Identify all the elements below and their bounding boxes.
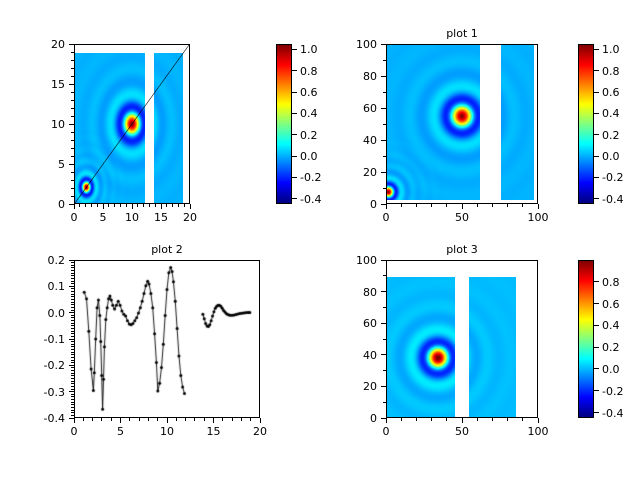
y-tick-major <box>69 164 74 165</box>
y-tick-minor <box>383 92 386 93</box>
y-tick-major <box>69 339 74 340</box>
x-tick-minor <box>232 418 233 421</box>
y-tick-major <box>69 365 74 366</box>
y-tick-minor <box>71 344 74 345</box>
y-tick-minor <box>71 404 74 405</box>
y-tick-label: 0 <box>337 199 377 210</box>
y-tick-minor <box>71 349 74 350</box>
x-tick-minor <box>222 418 223 421</box>
y-tick-minor <box>71 315 74 316</box>
heatmap-image-plot-3 <box>387 261 537 417</box>
y-tick-major <box>381 291 386 292</box>
x-tick-minor <box>184 204 185 207</box>
y-tick-label: 20 <box>337 167 377 178</box>
x-tick-major <box>462 418 463 423</box>
colorbar-tick <box>594 390 599 391</box>
colorbar-tick <box>594 92 599 93</box>
y-tick-minor <box>71 367 74 368</box>
colorbar-tick-label: 0.2 <box>602 342 620 353</box>
y-tick-minor <box>71 172 74 173</box>
colorbar-tick-label: 0.4 <box>602 108 620 119</box>
x-tick-major <box>74 418 75 423</box>
x-tick-minor <box>83 418 84 421</box>
y-tick-label: 80 <box>337 287 377 298</box>
x-tick-minor <box>143 204 144 207</box>
colorbar-tick <box>594 412 599 413</box>
y-tick-minor <box>71 381 74 382</box>
y-tick-minor <box>71 410 74 411</box>
colorbar-plot-1 <box>578 44 594 204</box>
x-tick-minor <box>492 418 493 421</box>
x-tick-minor <box>91 204 92 207</box>
y-tick-minor <box>71 394 74 395</box>
y-tick-label: 0 <box>337 413 377 424</box>
x-tick-label: 5 <box>101 426 141 437</box>
y-tick-minor <box>71 399 74 400</box>
y-tick-major <box>381 323 386 324</box>
x-tick-minor <box>176 418 177 421</box>
x-tick-label: 50 <box>442 426 482 437</box>
y-tick-minor <box>383 60 386 61</box>
y-tick-minor <box>71 281 74 282</box>
y-tick-major <box>381 204 386 205</box>
colorbar-tick-label: 0.8 <box>602 66 620 77</box>
y-tick-major <box>69 312 74 313</box>
y-tick-minor <box>71 389 74 390</box>
y-tick-minor <box>71 267 74 268</box>
y-tick-label: 15 <box>25 79 65 90</box>
x-tick-label: 20 <box>170 212 210 223</box>
x-tick-minor <box>522 418 523 421</box>
x-tick-minor <box>129 418 130 421</box>
colorbar-tick <box>594 156 599 157</box>
y-tick-major <box>69 124 74 125</box>
colorbar-tick <box>292 156 297 157</box>
y-tick-major <box>69 84 74 85</box>
x-tick-minor <box>431 204 432 207</box>
x-tick-major <box>538 418 539 423</box>
x-tick-label: 10 <box>147 426 187 437</box>
x-tick-minor <box>204 418 205 421</box>
colorbar-plot-3 <box>578 260 594 418</box>
y-tick-minor <box>71 328 74 329</box>
x-tick-minor <box>241 418 242 421</box>
x-tick-label: 100 <box>518 426 558 437</box>
x-tick-minor <box>155 204 156 207</box>
y-tick-major <box>69 260 74 261</box>
x-tick-minor <box>126 204 127 207</box>
colorbar-tick <box>292 92 297 93</box>
y-tick-label: -0.2 <box>25 360 65 371</box>
x-tick-minor <box>120 204 121 207</box>
x-tick-major <box>103 204 104 209</box>
heatmap-image-top-left <box>75 45 189 203</box>
colorbar-tick <box>594 49 599 50</box>
y-tick-minor <box>71 265 74 266</box>
y-tick-minor <box>71 188 74 189</box>
figure-canvas: 05101520051015201.00.80.60.40.20.0-0.2-0… <box>0 0 640 480</box>
y-tick-major <box>69 44 74 45</box>
y-tick-major <box>381 108 386 109</box>
y-tick-label: 20 <box>337 381 377 392</box>
y-tick-minor <box>71 294 74 295</box>
y-tick-minor <box>71 60 74 61</box>
y-tick-minor <box>71 68 74 69</box>
colorbar-tick-label: -0.2 <box>300 172 321 183</box>
y-tick-label: 5 <box>25 159 65 170</box>
colorbar-tick-label: -0.4 <box>602 194 623 205</box>
x-tick-minor <box>114 204 115 207</box>
x-tick-label: 50 <box>442 212 482 223</box>
colorbar-tick-label: 0.4 <box>300 108 318 119</box>
colorbar-tick-label: 0.4 <box>602 320 620 331</box>
axes-frame-plot-1 <box>386 44 538 204</box>
y-tick-major <box>69 286 74 287</box>
axes-frame-plot-3 <box>386 260 538 418</box>
x-tick-minor <box>522 204 523 207</box>
y-tick-minor <box>71 317 74 318</box>
x-tick-minor <box>149 204 150 207</box>
x-tick-major <box>213 418 214 423</box>
x-tick-minor <box>401 204 402 207</box>
y-tick-minor <box>71 304 74 305</box>
x-tick-minor <box>157 418 158 421</box>
colorbar-tick-label: 0.6 <box>602 299 620 310</box>
colorbar-tick-label: 0.0 <box>300 151 318 162</box>
x-tick-minor <box>166 204 167 207</box>
y-tick-minor <box>71 148 74 149</box>
x-tick-minor <box>477 204 478 207</box>
y-tick-minor <box>71 180 74 181</box>
y-tick-label: 20 <box>25 39 65 50</box>
x-tick-label: 0 <box>366 426 406 437</box>
y-tick-minor <box>383 275 386 276</box>
y-tick-minor <box>383 188 386 189</box>
y-tick-minor <box>71 283 74 284</box>
x-tick-minor <box>507 204 508 207</box>
x-tick-minor <box>111 418 112 421</box>
y-tick-label: 60 <box>337 318 377 329</box>
y-tick-minor <box>71 373 74 374</box>
x-tick-major <box>132 204 133 209</box>
colorbar-tick <box>292 113 297 114</box>
y-tick-label: 0.1 <box>25 281 65 292</box>
colorbar-tick <box>594 177 599 178</box>
y-tick-minor <box>71 323 74 324</box>
y-tick-label: 100 <box>337 39 377 50</box>
y-tick-major <box>381 44 386 45</box>
y-tick-minor <box>71 132 74 133</box>
axes-frame-top-left <box>74 44 190 204</box>
x-tick-major <box>462 204 463 209</box>
y-tick-major <box>381 354 386 355</box>
x-tick-minor <box>108 204 109 207</box>
y-tick-minor <box>71 278 74 279</box>
y-tick-minor <box>71 407 74 408</box>
y-tick-minor <box>71 302 74 303</box>
y-tick-minor <box>71 299 74 300</box>
panel-title-plot-1: plot 1 <box>386 28 538 40</box>
y-tick-minor <box>383 124 386 125</box>
colorbar-tick-label: 0.0 <box>602 364 620 375</box>
x-tick-minor <box>85 204 86 207</box>
y-tick-major <box>69 418 74 419</box>
y-tick-minor <box>71 336 74 337</box>
y-tick-minor <box>71 415 74 416</box>
y-tick-label: -0.4 <box>25 413 65 424</box>
x-tick-minor <box>178 204 179 207</box>
y-tick-minor <box>383 339 386 340</box>
y-tick-minor <box>71 288 74 289</box>
y-tick-major <box>381 386 386 387</box>
x-tick-minor <box>97 204 98 207</box>
colorbar-tick-label: 0.6 <box>602 87 620 98</box>
x-tick-minor <box>477 418 478 421</box>
x-tick-minor <box>148 418 149 421</box>
y-tick-minor <box>71 196 74 197</box>
y-tick-label: -0.1 <box>25 334 65 345</box>
colorbar-tick <box>594 113 599 114</box>
colorbar-gradient-top-left <box>277 45 291 203</box>
y-tick-minor <box>71 310 74 311</box>
y-tick-minor <box>71 354 74 355</box>
x-tick-major <box>386 418 387 423</box>
y-tick-minor <box>71 262 74 263</box>
panel-title-plot-3: plot 3 <box>386 244 538 256</box>
x-tick-major <box>260 418 261 423</box>
panel-title-plot-2: plot 2 <box>74 244 260 256</box>
colorbar-tick-label: 0.0 <box>602 151 620 162</box>
x-tick-major <box>120 418 121 423</box>
x-tick-minor <box>172 204 173 207</box>
colorbar-gradient-plot-3 <box>579 261 593 417</box>
y-tick-minor <box>71 375 74 376</box>
y-tick-minor <box>71 307 74 308</box>
y-tick-label: 0.0 <box>25 308 65 319</box>
colorbar-tick-label: -0.4 <box>300 194 321 205</box>
y-tick-minor <box>71 402 74 403</box>
y-tick-minor <box>383 307 386 308</box>
colorbar-tick <box>594 368 599 369</box>
y-tick-minor <box>71 412 74 413</box>
colorbar-tick-label: 0.2 <box>300 130 318 141</box>
y-tick-minor <box>71 331 74 332</box>
y-tick-major <box>69 391 74 392</box>
y-tick-minor <box>71 346 74 347</box>
axes-frame-plot-2 <box>74 260 260 418</box>
y-tick-minor <box>71 296 74 297</box>
colorbar-tick-label: 0.8 <box>300 66 318 77</box>
y-tick-minor <box>71 92 74 93</box>
x-tick-minor <box>416 418 417 421</box>
colorbar-tick <box>292 198 297 199</box>
y-tick-minor <box>71 333 74 334</box>
x-tick-major <box>74 204 75 209</box>
y-tick-minor <box>71 108 74 109</box>
y-tick-minor <box>71 341 74 342</box>
colorbar-top-left <box>276 44 292 204</box>
y-tick-major <box>69 204 74 205</box>
y-tick-label: 40 <box>337 350 377 361</box>
y-tick-label: 80 <box>337 71 377 82</box>
colorbar-tick <box>594 198 599 199</box>
x-tick-minor <box>92 418 93 421</box>
y-tick-minor <box>383 156 386 157</box>
colorbar-tick <box>594 347 599 348</box>
y-tick-minor <box>71 116 74 117</box>
x-tick-minor <box>79 204 80 207</box>
colorbar-gradient-plot-1 <box>579 45 593 203</box>
colorbar-tick-label: 0.8 <box>602 277 620 288</box>
x-tick-major <box>190 204 191 209</box>
colorbar-tick <box>594 70 599 71</box>
colorbar-tick-label: 1.0 <box>300 44 318 55</box>
y-tick-minor <box>71 100 74 101</box>
y-tick-minor <box>71 396 74 397</box>
colorbar-tick-label: -0.4 <box>602 408 623 419</box>
colorbar-tick <box>292 134 297 135</box>
y-tick-label: 0.2 <box>25 255 65 266</box>
y-tick-label: 0 <box>25 199 65 210</box>
x-tick-minor <box>507 418 508 421</box>
y-tick-minor <box>71 383 74 384</box>
x-tick-label: 0 <box>54 426 94 437</box>
y-tick-minor <box>71 156 74 157</box>
line-series-plot-2 <box>75 261 259 417</box>
x-tick-minor <box>185 418 186 421</box>
y-tick-label: 100 <box>337 255 377 266</box>
x-tick-minor <box>250 418 251 421</box>
x-tick-major <box>161 204 162 209</box>
y-tick-minor <box>71 273 74 274</box>
y-tick-minor <box>71 352 74 353</box>
colorbar-tick <box>594 325 599 326</box>
x-tick-minor <box>401 418 402 421</box>
y-tick-minor <box>71 362 74 363</box>
x-tick-label: 0 <box>366 212 406 223</box>
y-tick-label: 10 <box>25 119 65 130</box>
y-tick-major <box>381 418 386 419</box>
x-tick-minor <box>194 418 195 421</box>
colorbar-tick <box>292 177 297 178</box>
y-tick-minor <box>71 320 74 321</box>
y-tick-minor <box>383 370 386 371</box>
y-tick-minor <box>71 325 74 326</box>
colorbar-tick-label: 0.2 <box>602 130 620 141</box>
x-tick-minor <box>101 418 102 421</box>
y-tick-major <box>381 172 386 173</box>
x-tick-major <box>167 418 168 423</box>
x-tick-minor <box>137 204 138 207</box>
y-tick-major <box>381 76 386 77</box>
y-tick-minor <box>71 360 74 361</box>
x-tick-label: 15 <box>194 426 234 437</box>
colorbar-tick-label: -0.2 <box>602 172 623 183</box>
x-tick-minor <box>139 418 140 421</box>
y-tick-minor <box>71 140 74 141</box>
colorbar-tick-label: 1.0 <box>602 44 620 55</box>
y-tick-minor <box>71 291 74 292</box>
y-tick-major <box>381 140 386 141</box>
y-tick-major <box>381 260 386 261</box>
y-tick-label: 40 <box>337 135 377 146</box>
colorbar-tick <box>594 134 599 135</box>
y-tick-minor <box>71 52 74 53</box>
x-tick-minor <box>446 204 447 207</box>
y-tick-minor <box>71 370 74 371</box>
y-tick-label: -0.3 <box>25 387 65 398</box>
x-tick-minor <box>492 204 493 207</box>
y-tick-minor <box>71 275 74 276</box>
x-tick-label: 100 <box>518 212 558 223</box>
x-tick-minor <box>446 418 447 421</box>
colorbar-tick <box>292 49 297 50</box>
heatmap-image-plot-1 <box>387 45 537 203</box>
colorbar-tick <box>594 303 599 304</box>
colorbar-tick <box>292 70 297 71</box>
y-tick-minor <box>71 76 74 77</box>
x-tick-minor <box>416 204 417 207</box>
y-tick-minor <box>71 378 74 379</box>
colorbar-tick <box>594 281 599 282</box>
x-tick-major <box>538 204 539 209</box>
y-tick-minor <box>383 402 386 403</box>
y-tick-minor <box>71 386 74 387</box>
colorbar-tick-label: 0.6 <box>300 87 318 98</box>
x-tick-label: 20 <box>240 426 280 437</box>
y-tick-label: 60 <box>337 103 377 114</box>
y-tick-minor <box>71 270 74 271</box>
y-tick-minor <box>71 357 74 358</box>
x-tick-minor <box>431 418 432 421</box>
x-tick-major <box>386 204 387 209</box>
colorbar-tick-label: -0.2 <box>602 386 623 397</box>
